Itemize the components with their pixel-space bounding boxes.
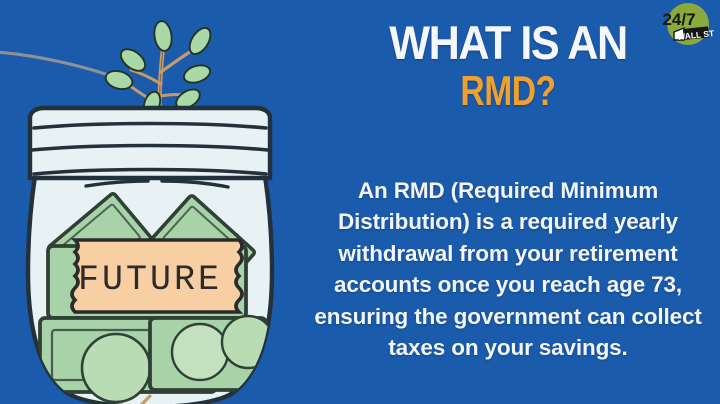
future-label-text: FUTURE <box>78 260 222 300</box>
body-paragraph: An RMD (Required Minimum Distribution) i… <box>304 175 712 364</box>
headline-line-2: RMD? <box>338 69 677 113</box>
text-column: 24/7 WALL ST WHAT IS AN RMD? An RMD (Req… <box>296 0 720 404</box>
headline: WHAT IS AN RMD? <box>296 18 720 113</box>
headline-line-1: WHAT IS AN <box>313 18 703 68</box>
savings-jar-illustration: FUTURE <box>0 0 300 404</box>
rmd-infographic: FUTURE 24/7 WALL ST WHAT IS AN RMD? <box>0 0 720 404</box>
future-label: FUTURE <box>72 240 242 312</box>
tendril-branch-icon <box>0 52 122 80</box>
jar-lid-icon <box>30 108 270 187</box>
plant-sprout-icon <box>104 20 215 118</box>
